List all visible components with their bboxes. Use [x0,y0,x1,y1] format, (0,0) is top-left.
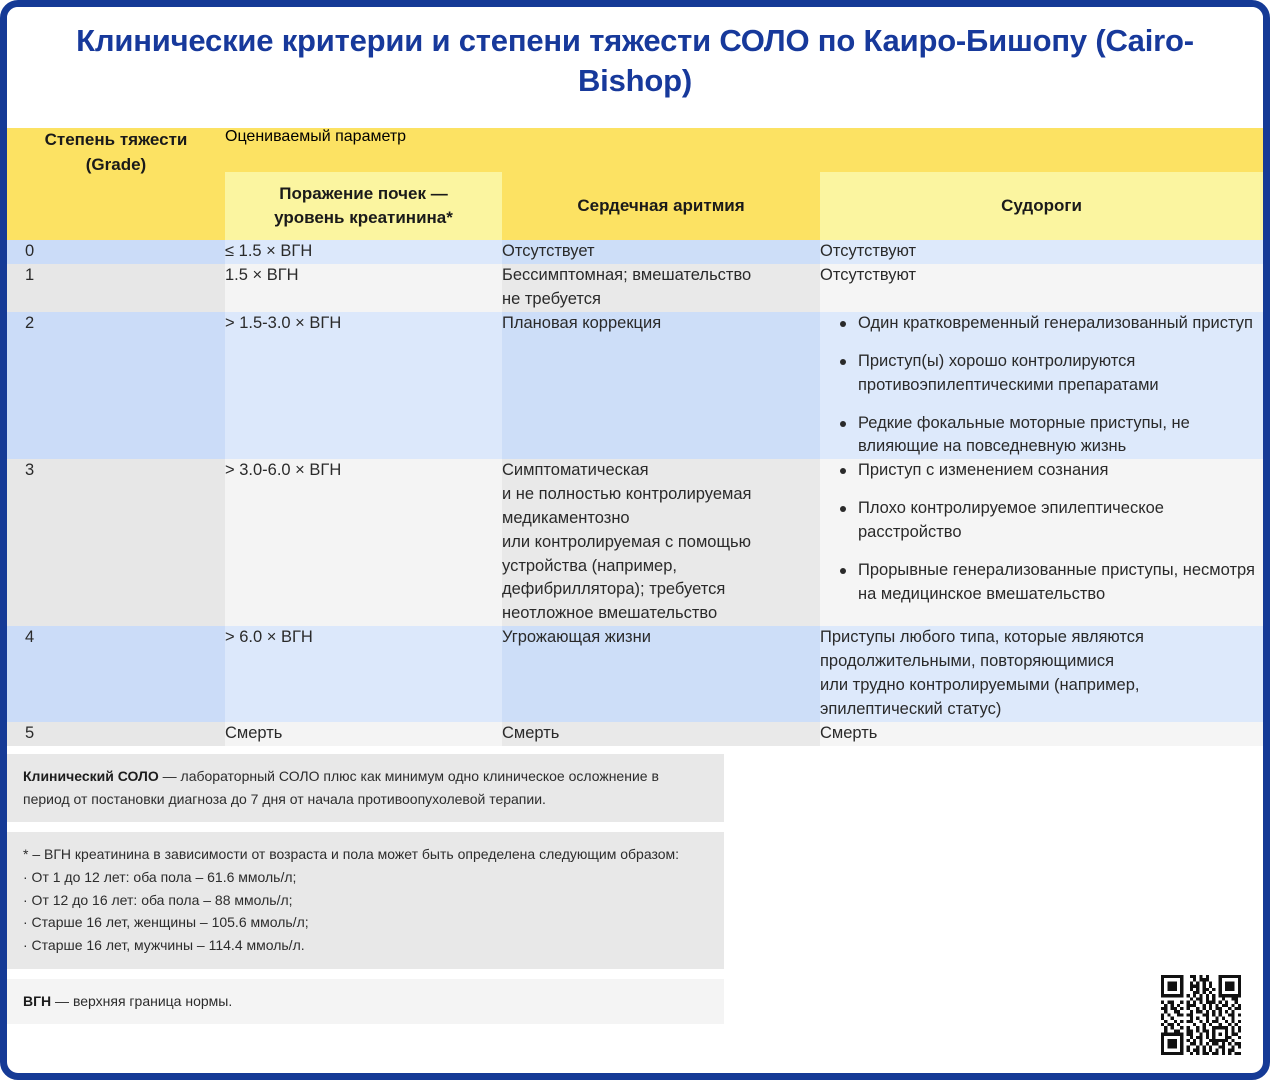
header-col-seizure-label: Судороги [820,172,1263,240]
criteria-table: Степень тяжести (Grade) Оцениваемый пара… [7,128,1263,746]
header-col-arrhythmia-label: Сердечная аритмия [502,172,820,240]
table-row: 2 > 1.5-3.0 × ВГН Плановая коррекция Оди… [7,312,1263,459]
list-item: Редкие фокальные моторные приступы, не в… [840,412,1263,459]
cell-grade: 5 [7,722,225,746]
cell-seizure: Смерть [820,722,1263,746]
footnote-clinical-tls-term: Клинический СОЛО [23,768,159,784]
cell-kidney: > 1.5-3.0 × ВГН [225,312,502,459]
header-col-kidney-label: Поражение почек — уровень креатинина* [225,172,502,240]
table-row: 5 Смерть Смерть Смерть [7,722,1263,746]
seizure-bullet-list: Приступ с изменением сознания Плохо конт… [820,459,1263,606]
list-item: Прорывные генерализованные приступы, нес… [840,559,1263,606]
title-area: Клинические критерии и степени тяжести С… [7,7,1263,128]
cell-arrhythmia: Смерть [502,722,820,746]
table-body: 0 ≤ 1.5 × ВГН Отсутствует Отсутствуют 1 … [7,240,1263,746]
qr-code[interactable] [1159,973,1247,1061]
cell-seizure: Один кратковременный генерализованный пр… [820,312,1263,459]
cell-arrhythmia: Отсутствует [502,240,820,264]
cell-kidney: > 3.0-6.0 × ВГН [225,459,502,626]
cell-arrhythmia: Симптоматическая и не полностью контроли… [502,459,820,626]
cell-arrhythmia: Плановая коррекция [502,312,820,459]
footnote-uln-term: ВГН [23,993,51,1009]
header-row-top: Степень тяжести (Grade) Оцениваемый пара… [7,128,1263,172]
cell-kidney: Смерть [225,722,502,746]
footnote-clinical-tls: Клинический СОЛО — лабораторный СОЛО плю… [7,754,724,822]
cell-arrhythmia: Бессимптомная; вмешательство не требуетс… [502,264,820,312]
header-col-kidney: Поражение почек — уровень креатинина* [225,172,502,240]
list-item: Приступ(ы) хорошо контролируются противо… [840,350,1263,397]
cell-seizure: Отсутствуют [820,264,1263,312]
list-item: Плохо контролируемое эпилептическое расс… [840,497,1263,544]
table-row: 3 > 3.0-6.0 × ВГН Симптоматическая и не … [7,459,1263,626]
header-col-arrhythmia: Сердечная аритмия [502,172,820,240]
footnote-creatinine-uln: * – ВГН креатинина в зависимости от возр… [7,832,724,968]
cell-grade: 4 [7,626,225,722]
header-grade-column: Степень тяжести (Grade) [7,128,225,240]
page-title: Клинические критерии и степени тяжести С… [47,21,1223,100]
table-row: 0 ≤ 1.5 × ВГН Отсутствует Отсутствуют [7,240,1263,264]
seizure-bullet-list: Один кратковременный генерализованный пр… [820,312,1263,459]
header-col-seizure: Судороги [820,172,1263,240]
footnotes: Клинический СОЛО — лабораторный СОЛО плю… [7,746,1263,1024]
cell-seizure: Отсутствуют [820,240,1263,264]
cell-grade: 2 [7,312,225,459]
cell-kidney: ≤ 1.5 × ВГН [225,240,502,264]
table-row: 4 > 6.0 × ВГН Угрожающая жизни Приступы … [7,626,1263,722]
cell-seizure: Приступ с изменением сознания Плохо конт… [820,459,1263,626]
footnote-creatinine-uln-text: * – ВГН креатинина в зависимости от возр… [23,843,708,956]
table-row: 1 1.5 × ВГН Бессимптомная; вмешательство… [7,264,1263,312]
footnote-uln-text: — верхняя граница нормы. [51,993,232,1009]
footnote-uln-definition: ВГН — верхняя граница нормы. [7,979,724,1025]
cell-seizure: Приступы любого типа, которые являются п… [820,626,1263,722]
table-header: Степень тяжести (Grade) Оцениваемый пара… [7,128,1263,240]
cell-kidney: 1.5 × ВГН [225,264,502,312]
list-item: Приступ с изменением сознания [840,459,1263,482]
cell-grade: 1 [7,264,225,312]
cell-arrhythmia: Угрожающая жизни [502,626,820,722]
cell-kidney: > 6.0 × ВГН [225,626,502,722]
list-item: Один кратковременный генерализованный пр… [840,312,1263,335]
cell-grade: 3 [7,459,225,626]
cell-grade: 0 [7,240,225,264]
poster-frame: Клинические критерии и степени тяжести С… [0,0,1270,1080]
header-parameter-group: Оцениваемый параметр [225,128,1263,172]
